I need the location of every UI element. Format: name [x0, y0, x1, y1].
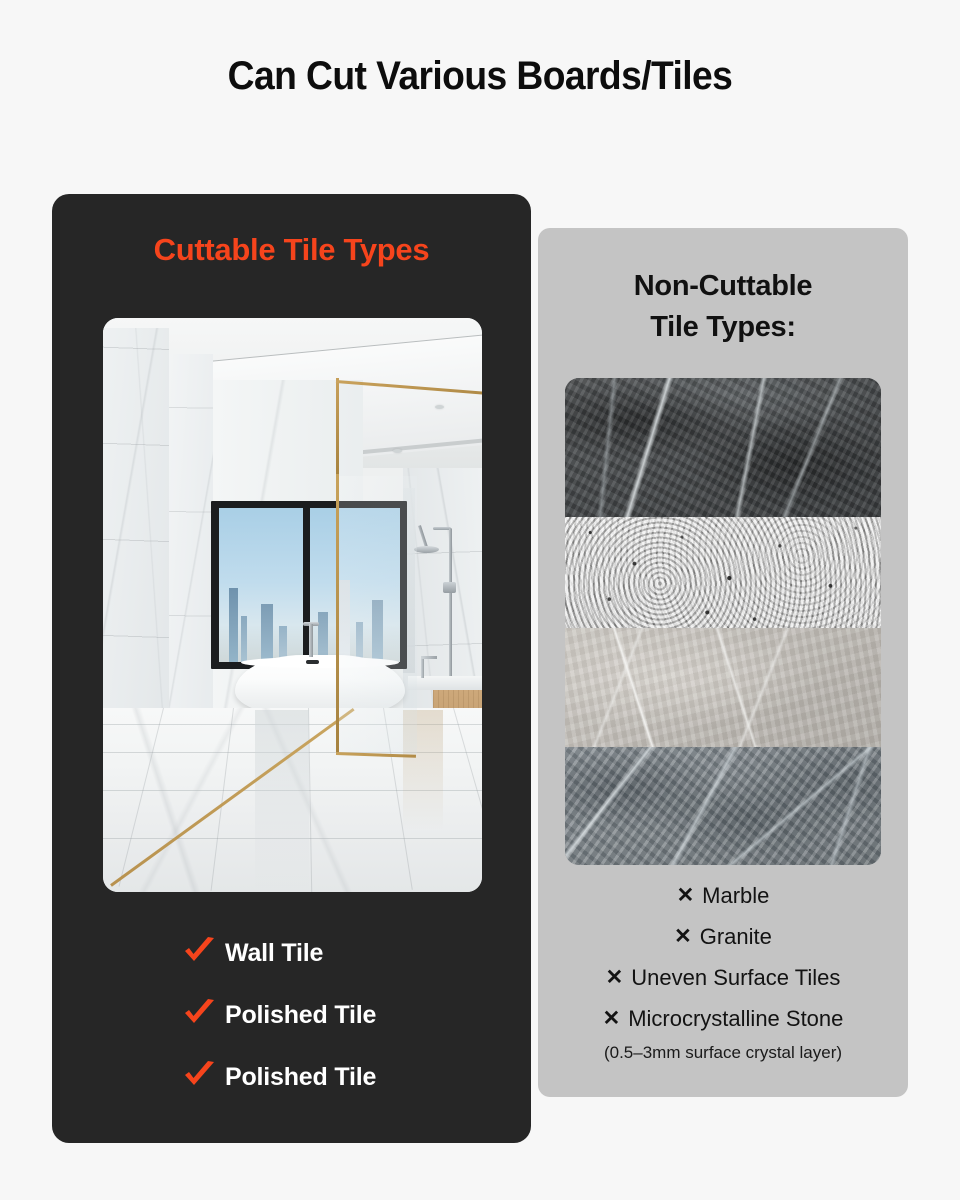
x-icon: ✕ — [674, 917, 692, 957]
list-item: Wall Tile — [52, 922, 531, 984]
vanity-faucet — [421, 656, 424, 678]
x-icon: ✕ — [677, 876, 695, 916]
noncuttable-tile-types-panel: Non-Cuttable Tile Types: ✕Marble ✕Granit… — [538, 228, 908, 1097]
window-pane-left — [219, 508, 303, 662]
shower-riser — [449, 528, 452, 678]
cuttable-tile-list: Wall Tile Polished Tile Polished Tile — [52, 922, 531, 1108]
list-item: ✕Microcrystalline Stone — [538, 999, 908, 1040]
pale-gray-marble-swatch — [565, 628, 881, 747]
gold-divider-vertical — [336, 474, 339, 754]
check-icon — [183, 999, 225, 1032]
list-item: Polished Tile — [52, 984, 531, 1046]
check-icon — [183, 1061, 225, 1094]
list-item-label: Wall Tile — [225, 939, 323, 968]
x-icon: ✕ — [606, 958, 624, 998]
shower-handset — [443, 582, 456, 593]
vanity-countertop — [408, 676, 482, 690]
list-item-label: Marble — [702, 883, 769, 908]
cuttable-tile-types-panel: Cuttable Tile Types — [52, 194, 531, 1143]
list-item: ✕Marble — [538, 876, 908, 917]
noncuttable-heading-line2: Tile Types: — [538, 307, 908, 348]
noncuttable-tile-swatch-stack — [565, 378, 881, 865]
list-item-label: Polished Tile — [225, 1001, 376, 1030]
dark-marble-swatch — [565, 378, 881, 517]
tub-filler — [309, 624, 313, 657]
noncuttable-heading-line1: Non-Cuttable — [634, 270, 812, 302]
list-item: ✕Uneven Surface Tiles — [538, 958, 908, 999]
blue-gray-marble-swatch — [565, 747, 881, 865]
glass-divider-pane — [339, 476, 417, 754]
downlight-icon — [393, 449, 402, 453]
gold-ceiling-post — [336, 378, 339, 474]
downlight-icon — [435, 405, 444, 409]
noncuttable-note: (0.5–3mm surface crystal layer) — [538, 1040, 908, 1066]
tub-drain — [306, 660, 319, 664]
page-title: Can Cut Various Boards/Tiles — [34, 54, 927, 99]
vanity-faucet-spout — [421, 656, 437, 659]
list-item-label: Microcrystalline Stone — [628, 1006, 843, 1031]
list-item: ✕Granite — [538, 917, 908, 958]
list-item-label: Polished Tile — [225, 1063, 376, 1092]
noncuttable-tile-list: ✕Marble ✕Granite ✕Uneven Surface Tiles ✕… — [538, 876, 908, 1066]
list-item-label: Uneven Surface Tiles — [631, 965, 840, 990]
cuttable-panel-heading: Cuttable Tile Types — [52, 232, 531, 268]
shower-head-icon — [414, 546, 439, 553]
speckled-granite-swatch — [565, 517, 881, 628]
list-item-label: Granite — [700, 924, 772, 949]
x-icon: ✕ — [603, 999, 621, 1039]
bathroom-interior-photo — [103, 318, 482, 892]
list-item: Polished Tile — [52, 1046, 531, 1108]
check-icon — [183, 937, 225, 970]
floor-reflection — [255, 710, 309, 890]
noncuttable-panel-heading: Non-Cuttable Tile Types: — [538, 266, 908, 348]
